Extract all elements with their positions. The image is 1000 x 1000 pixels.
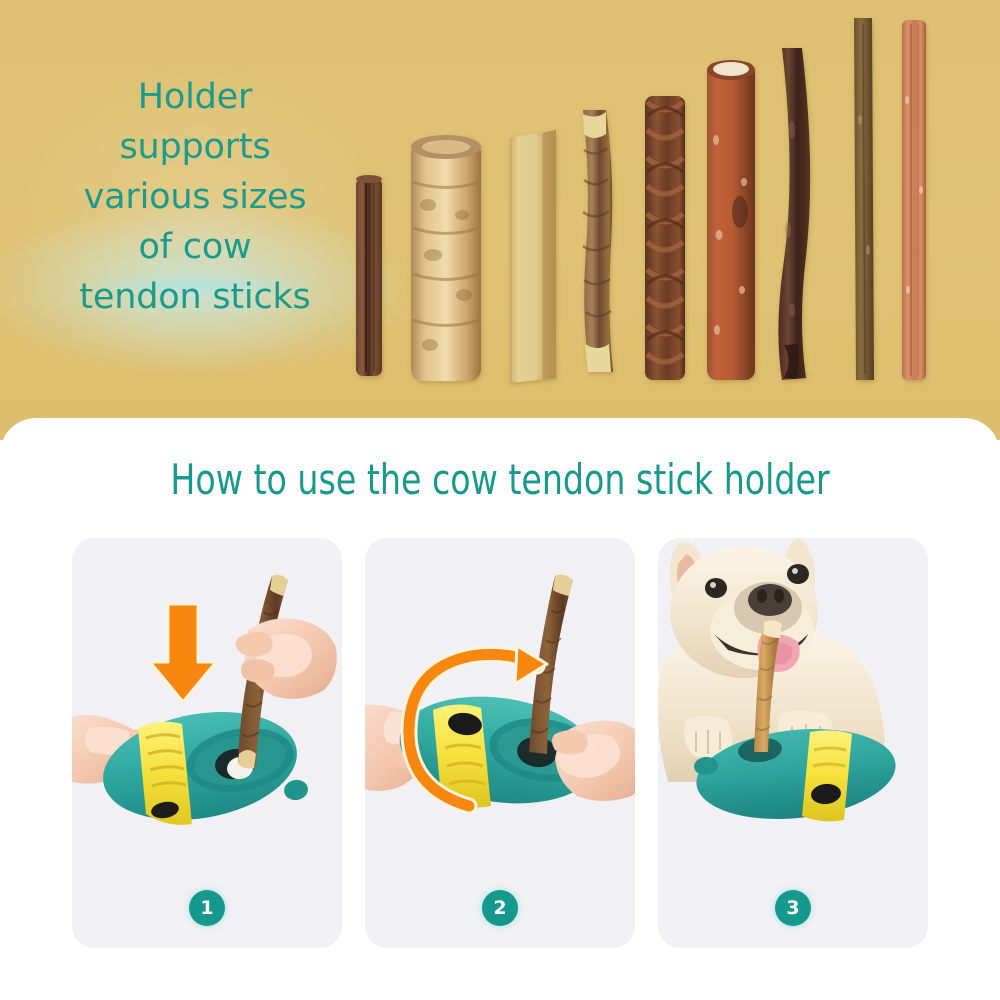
card-title: How to use the cow tendon stick holder (60, 454, 940, 506)
stick-curved-dark (778, 48, 810, 380)
hero-section: Holder supports various sizes of cow ten… (0, 0, 1000, 440)
stick-thin-dark-brown (356, 175, 382, 376)
step-badge-3: 3 (775, 890, 811, 926)
stick-thick-knotted-tan (411, 135, 481, 381)
stick-thin-olive (854, 18, 874, 380)
stick-thick-red-bully (707, 60, 755, 380)
step1-illustration (72, 538, 342, 878)
step-badge-1: 1 (189, 890, 225, 926)
stick-twisted-brown (583, 110, 613, 372)
treat-holder-device (94, 698, 309, 834)
step3-illustration (658, 538, 928, 878)
stick-braided-dark (645, 96, 685, 380)
stick-gallery (0, 0, 1000, 440)
step-panel-rotate-holder[interactable]: 2 (365, 538, 635, 948)
step2-illustration (365, 538, 635, 878)
infographic-root: Holder supports various sizes of cow ten… (0, 0, 1000, 1000)
steps-container: 1 (72, 538, 928, 948)
step-badge-2: 2 (482, 890, 518, 926)
dog-head (670, 538, 818, 678)
down-arrow-icon (150, 604, 216, 702)
how-to-card: How to use the cow tendon stick holder (0, 418, 1000, 1000)
stick-gallery-svg (0, 0, 1000, 440)
step-panel-insert-stick[interactable]: 1 (72, 538, 342, 948)
stick-thin-pink (902, 20, 926, 380)
step-panel-dog-plays[interactable]: 3 (658, 538, 928, 948)
stick-flat-tan-bar (510, 130, 556, 383)
